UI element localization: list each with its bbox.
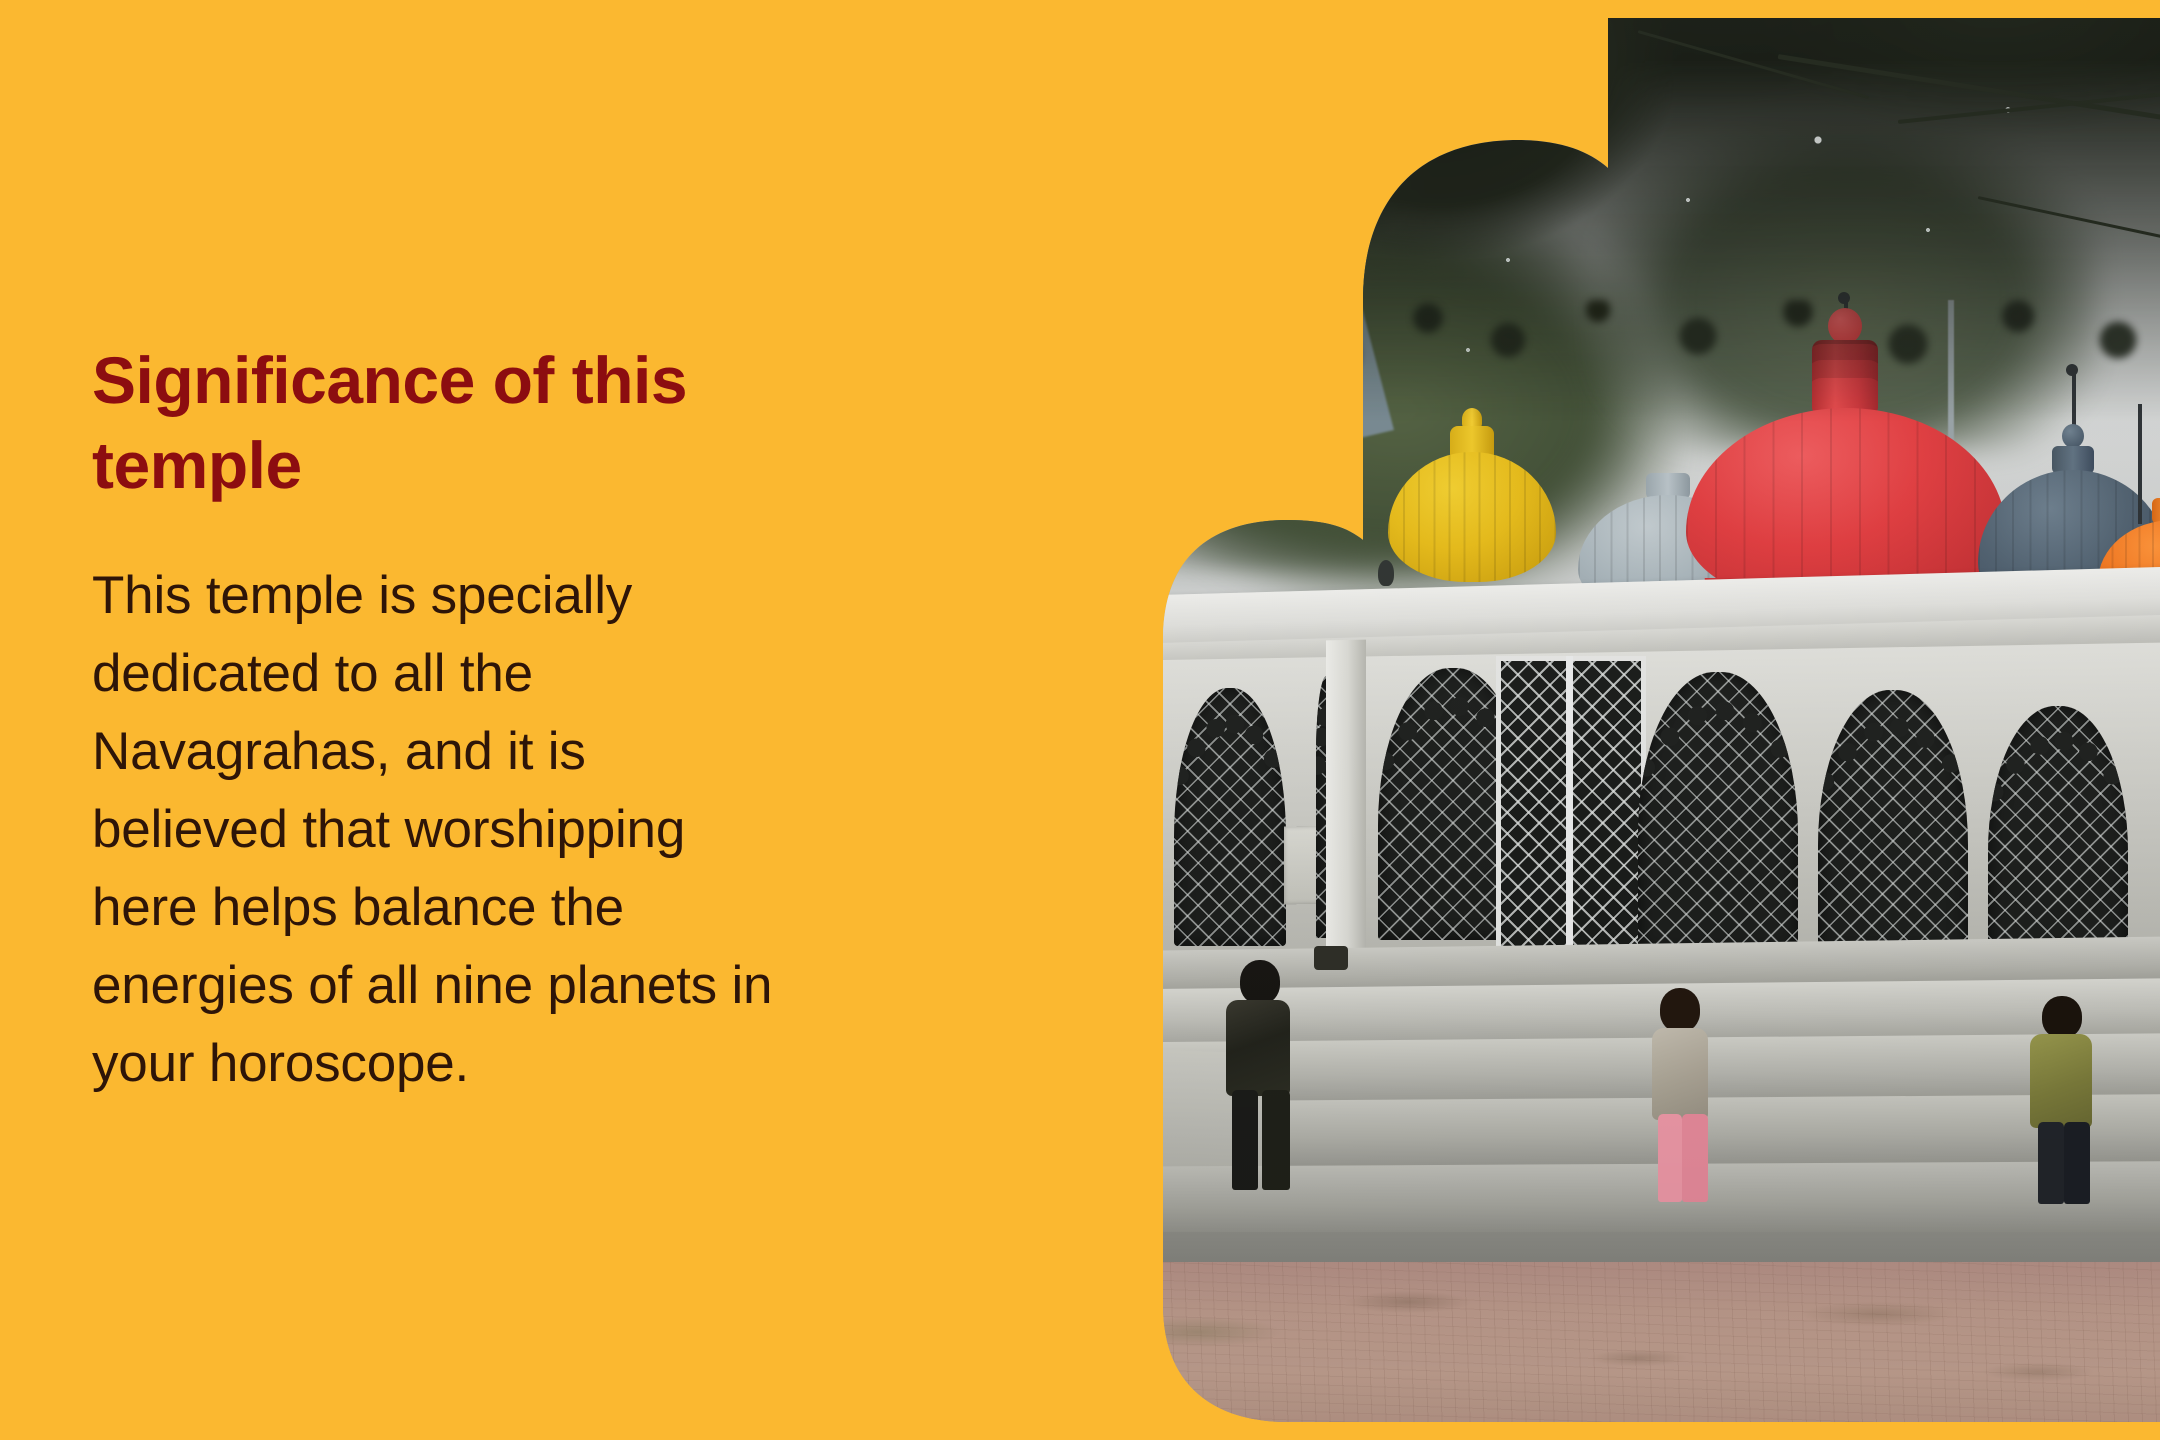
bird-silhouette xyxy=(1378,560,1394,586)
text-panel: Significance of this temple This temple … xyxy=(92,0,792,1440)
body-paragraph: This temple is specially dedicated to al… xyxy=(92,557,792,1102)
flag-pole-left xyxy=(1356,290,1361,470)
temple-gate-mullion xyxy=(1566,656,1573,956)
child-leg xyxy=(2038,1122,2064,1204)
child-leg xyxy=(1682,1114,1708,1202)
child-torso xyxy=(1226,1000,1290,1096)
child-head xyxy=(1660,988,1700,1032)
child-torso xyxy=(1652,1028,1708,1120)
temple-arch xyxy=(1078,700,1160,948)
child-right xyxy=(2024,996,2100,1204)
slide-canvas: Significance of this temple This temple … xyxy=(0,0,2160,1440)
child-leg xyxy=(1658,1114,1682,1202)
temple-photo-clip xyxy=(1078,0,2160,1440)
child-leg xyxy=(1262,1090,1290,1190)
child-leg xyxy=(2064,1122,2090,1204)
child-head xyxy=(1240,960,1280,1004)
child-center xyxy=(1644,988,1718,1200)
child-head xyxy=(2042,996,2082,1038)
child-leg xyxy=(1232,1090,1258,1190)
temple-arch xyxy=(1988,706,2128,958)
temple-arch xyxy=(1818,690,1968,958)
temple-photo xyxy=(1078,0,2160,1440)
step-object xyxy=(1314,946,1348,970)
child-left xyxy=(1218,960,1302,1190)
bird-silhouette xyxy=(1080,636,1094,658)
temple-arch xyxy=(1638,672,1798,952)
page-title: Significance of this temple xyxy=(92,338,712,510)
temple-arch xyxy=(1174,688,1286,946)
temple-corner-pier xyxy=(1326,640,1366,951)
courtyard-discolour xyxy=(1078,1262,2160,1440)
tree-canopy-speckle xyxy=(1078,0,2160,520)
child-torso xyxy=(2030,1034,2092,1128)
